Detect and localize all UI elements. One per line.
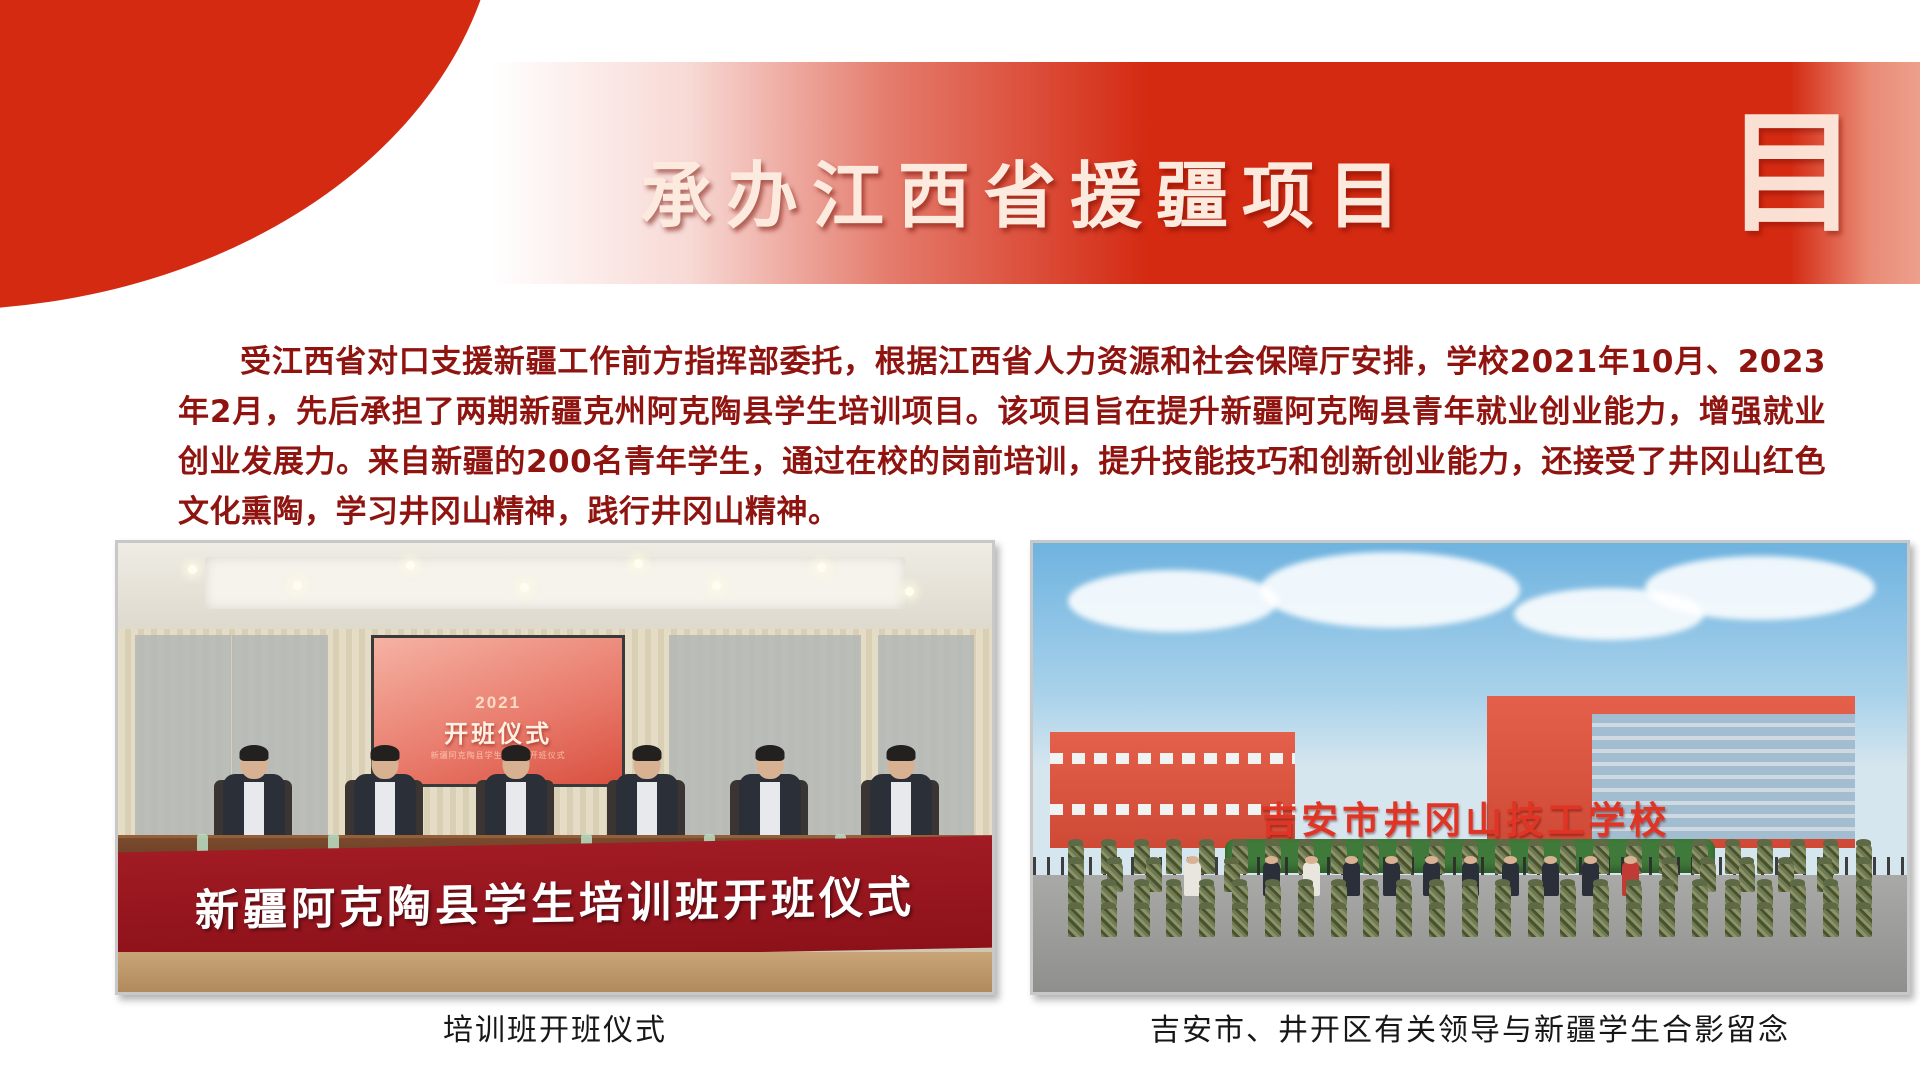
photo-caption-opening-ceremony: 培训班开班仪式 [115, 1013, 995, 1049]
ceiling-light-icon [293, 581, 302, 590]
seated-official [870, 748, 932, 844]
student-figure [1265, 907, 1281, 937]
window-row [1050, 804, 1295, 815]
student-figure [1856, 907, 1872, 937]
seated-official [485, 748, 547, 844]
student-figure [1068, 907, 1084, 937]
banner-decorative-glyph: 目 [1726, 108, 1858, 240]
student-figure [1495, 907, 1511, 937]
student-figure [1429, 907, 1445, 937]
ceremony-red-banner: 新疆阿克陶县学生培训班开班仪式 [118, 836, 992, 965]
window-row [1050, 753, 1295, 764]
student-figure [1298, 907, 1314, 937]
seated-official [223, 748, 285, 844]
ceiling-light-icon [188, 565, 197, 574]
student-figure [1593, 907, 1609, 937]
seated-official [739, 748, 801, 844]
student-figure [1199, 907, 1215, 937]
student-figure [1528, 907, 1544, 937]
screen-title-text: 开班仪式 [374, 714, 621, 749]
photo-card-group-photo: 吉安市井冈山技工学校 吉安市、井开区有关领导与新疆学生合影留念 [1030, 540, 1910, 1049]
student-figure [1560, 907, 1576, 937]
ceiling-recess [205, 557, 904, 609]
student-figure [1626, 907, 1642, 937]
ceiling-light-icon [905, 587, 914, 596]
ceremony-banner-text: 新疆阿克陶县学生培训班开班仪式 [195, 861, 915, 939]
cloud [1260, 552, 1520, 628]
corner-swoosh-decoration [0, 0, 500, 310]
student-figure [1166, 907, 1182, 937]
photo-card-opening-ceremony: 2021 开班仪式 新疆阿克陶县学生培训班开班仪式 [115, 540, 995, 1049]
seated-official [616, 748, 678, 844]
student-figure [1396, 907, 1412, 937]
screen-year-text: 2021 [374, 693, 621, 713]
photo-row: 2021 开班仪式 新疆阿克陶县学生培训班开班仪式 [0, 540, 1920, 1080]
cloud [1645, 556, 1875, 620]
student-figure [1134, 907, 1150, 937]
school-name-sign: 吉安市井冈山技工学校 [1260, 790, 1670, 844]
cloud [1068, 570, 1278, 632]
photo-opening-ceremony: 2021 开班仪式 新疆阿克陶县学生培训班开班仪式 [115, 540, 995, 995]
student-figure [1757, 907, 1773, 937]
stage-front [118, 952, 992, 992]
ceiling [118, 543, 992, 635]
ceiling-light-icon [634, 559, 643, 568]
student-figure [1232, 907, 1248, 937]
photo-group-photo: 吉安市井冈山技工学校 [1030, 540, 1910, 995]
schoolyard-scene: 吉安市井冈山技工学校 [1033, 543, 1907, 992]
photo-caption-group-photo: 吉安市、井开区有关领导与新疆学生合影留念 [1030, 1013, 1910, 1049]
seated-official [354, 748, 416, 844]
school-building-left [1050, 732, 1295, 849]
conference-hall-scene: 2021 开班仪式 新疆阿克陶县学生培训班开班仪式 [118, 543, 992, 992]
student-figure [1462, 907, 1478, 937]
student-figure [1331, 907, 1347, 937]
page-title: 承办江西省援疆项目 [640, 160, 1540, 232]
student-figure [1101, 907, 1117, 937]
student-figure [1363, 907, 1379, 937]
student-figure [1823, 907, 1839, 937]
crowd-row-front [1068, 907, 1872, 937]
student-figure [1790, 907, 1806, 937]
student-figure [1725, 907, 1741, 937]
student-figure [1692, 907, 1708, 937]
ceiling-light-icon [520, 583, 529, 592]
student-figure [1659, 907, 1675, 937]
body-paragraph: 受江西省对口支援新疆工作前方指挥部委托，根据江西省人力资源和社会保障厅安排，学校… [178, 337, 1826, 537]
